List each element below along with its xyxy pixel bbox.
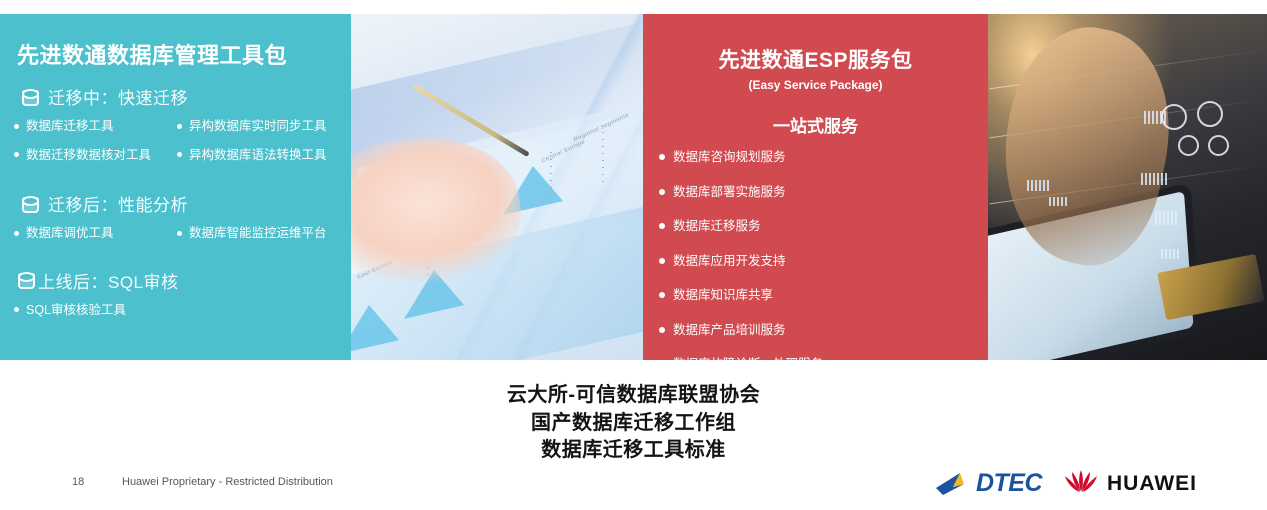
list-item-label: SQL审核核验工具 (26, 304, 126, 317)
list-item-label: 数据库故障诊断、处理服务 (673, 358, 823, 360)
teal-panel-title: 先进数通数据库管理工具包 (17, 38, 351, 70)
list-item: 数据库迁移服务 (659, 220, 825, 233)
teal-bullet-list-2: 数据库调优工具 数据库智能监控运维平台 (14, 227, 351, 256)
bullet-dot-icon (659, 223, 665, 229)
database-icon (18, 270, 35, 290)
list-item-label: 数据库知识库共享 (673, 289, 773, 302)
red-bullet-list: 数据库咨询规划服务 数据库部署实施服务 数据库迁移服务 数据库应用开发支持 数据… (659, 151, 988, 360)
logo-group: DTEC HUAWEI (934, 468, 1197, 499)
photo-ring-icon (1208, 135, 1229, 156)
photo-mini-bar-chart (1144, 111, 1166, 124)
database-icon (22, 194, 39, 214)
list-item: 异构数据库实时同步工具 (177, 120, 340, 133)
huawei-flower-icon (1064, 468, 1098, 499)
list-item: 数据库迁移工具 (14, 120, 177, 133)
red-panel-title-en: (Easy Service Package) (643, 78, 988, 92)
database-icon (22, 87, 39, 107)
list-item: 数据迁移数据核对工具 (14, 149, 177, 162)
bullet-dot-icon (177, 124, 182, 129)
teal-panel: 先进数通数据库管理工具包 迁移中：快速迁移 数据库迁移工具 异构数据库实时同步工… (0, 14, 351, 360)
bullet-dot-icon (14, 307, 19, 312)
list-item: 数据库知识库共享 (659, 289, 825, 302)
list-item-label: 数据迁移数据核对工具 (26, 149, 151, 162)
bullet-dot-icon (659, 154, 665, 160)
photo-ring-icon (1197, 101, 1223, 127)
red-panel: 先进数通ESP服务包 (Easy Service Package) 一站式服务 … (643, 14, 988, 360)
red-panel-subtitle: 一站式服务 (643, 112, 988, 137)
huawei-logo: HUAWEI (1064, 468, 1197, 499)
list-item: 数据库部署实施服务 (659, 186, 825, 199)
photo-mini-bar-chart (1141, 173, 1167, 185)
bullet-dot-icon (659, 258, 665, 264)
list-item-label: 数据库调优工具 (26, 227, 114, 240)
slide-root: 先进数通数据库管理工具包 迁移中：快速迁移 数据库迁移工具 异构数据库实时同步工… (0, 0, 1267, 510)
banner-strip: 先进数通数据库管理工具包 迁移中：快速迁移 数据库迁移工具 异构数据库实时同步工… (0, 14, 1267, 360)
teal-section-heading-2-label: 迁移后：性能分析 (48, 191, 188, 216)
list-item-label: 数据库智能监控运维平台 (189, 227, 327, 240)
list-item: 异构数据库语法转换工具 (177, 149, 340, 162)
list-item: SQL审核核验工具 (14, 304, 351, 317)
list-item-label: 数据库迁移工具 (26, 120, 114, 133)
list-item-label: 异构数据库实时同步工具 (189, 120, 327, 133)
list-item: 数据库智能监控运维平台 (177, 227, 340, 240)
dtec-arrow-icon (934, 471, 974, 497)
bullet-dot-icon (14, 231, 19, 236)
photo-mini-bar-chart (1155, 211, 1179, 225)
photo-hand-writing-charts: Regional segments Central Europe West Eu… (351, 14, 643, 360)
teal-section-heading-1-label: 迁移中：快速迁移 (48, 84, 188, 109)
list-item-label: 异构数据库语法转换工具 (189, 149, 327, 162)
caption-line-3: 数据库迁移工具标准 (0, 437, 1267, 465)
list-item: 数据库产品培训服务 (659, 324, 825, 337)
teal-bullet-list-1: 数据库迁移工具 异构数据库实时同步工具 数据迁移数据核对工具 异构数据库语法转换… (14, 120, 351, 177)
bullet-dot-icon (659, 327, 665, 333)
red-panel-title: 先进数通ESP服务包 (643, 44, 988, 74)
slide-footer: 18 Huawei Proprietary - Restricted Distr… (0, 464, 1267, 510)
list-item: 数据库故障诊断、处理服务 (659, 358, 988, 360)
bullet-dot-icon (659, 189, 665, 195)
list-item: 数据库应用开发支持 (659, 255, 825, 268)
bullet-dot-icon (14, 124, 19, 129)
caption-line-1: 云大所-可信数据库联盟协会 (0, 382, 1267, 410)
teal-section-heading-3-label: 上线后：SQL审核 (38, 268, 179, 293)
list-item-label: 数据库应用开发支持 (673, 255, 786, 268)
bullet-dot-icon (177, 152, 182, 157)
list-item-label: 数据库部署实施服务 (673, 186, 786, 199)
photo-mini-bar-chart (1049, 197, 1069, 206)
photo-mini-bar-chart (1027, 180, 1051, 191)
page-number: 18 (72, 476, 84, 488)
copyright-notice: Huawei Proprietary - Restricted Distribu… (122, 476, 333, 488)
list-item-label: 数据库咨询规划服务 (673, 151, 786, 164)
bullet-dot-icon (14, 152, 19, 157)
list-item-label: 数据库迁移服务 (673, 220, 761, 233)
list-item: 数据库咨询规划服务 (659, 151, 825, 164)
teal-section-heading-3: 上线后：SQL审核 (18, 268, 351, 293)
list-item: 数据库调优工具 (14, 227, 177, 240)
teal-section-heading-1: 迁移中：快速迁移 (22, 84, 351, 109)
photo-ring-icon (1178, 135, 1199, 156)
teal-section-heading-2: 迁移后：性能分析 (22, 191, 351, 216)
huawei-logo-text: HUAWEI (1107, 472, 1197, 496)
caption-block: 云大所-可信数据库联盟协会 国产数据库迁移工作组 数据库迁移工具标准 (0, 382, 1267, 465)
dtec-logo: DTEC (934, 469, 1042, 498)
teal-bullet-list-3: SQL审核核验工具 (14, 304, 351, 333)
caption-line-2: 国产数据库迁移工作组 (0, 410, 1267, 438)
photo-mini-bar-chart (1161, 249, 1181, 259)
bullet-dot-icon (659, 292, 665, 298)
bullet-dot-icon (177, 231, 182, 236)
dtec-logo-text: DTEC (976, 469, 1042, 498)
list-item-label: 数据库产品培训服务 (673, 324, 786, 337)
photo-finger-tablet (988, 14, 1267, 360)
photo-axis-ticks (602, 131, 604, 183)
